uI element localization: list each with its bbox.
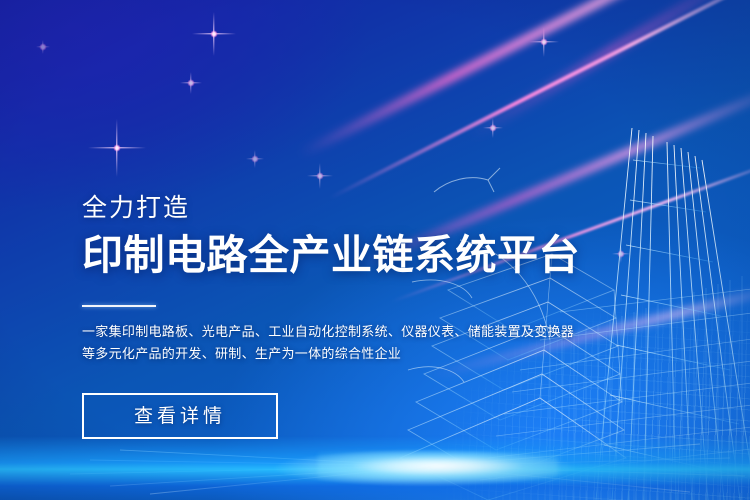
star-sparkle: [36, 40, 50, 54]
light-streak: [329, 0, 750, 200]
star-sparkle: [483, 118, 503, 138]
bottom-light-band: [0, 436, 750, 500]
hero-eyebrow: 全力打造: [82, 196, 682, 221]
bottom-light-core: [318, 452, 558, 480]
divider-rule: [82, 305, 156, 307]
star-sparkle: [529, 27, 559, 57]
hero-headline: 印制电路全产业链系统平台: [82, 235, 682, 277]
star-sparkle: [180, 72, 202, 94]
light-streak: [298, 0, 750, 159]
view-details-button[interactable]: 查看详情: [82, 393, 278, 439]
binary-data-ribbon: 1 0 0 1 1 0 0 1 0 1 1 0 0 1 0 1 0 1 1 0 …: [300, 0, 750, 147]
hero-description: 一家集印制电路板、光电产品、工业自动化控制系统、仪器仪表、储能装置及变换器 等多…: [82, 321, 552, 365]
star-sparkle: [307, 163, 333, 189]
hero-description-line-2: 等多元化产品的开发、研制、生产为一体的综合性企业: [82, 343, 552, 365]
hero-banner: 1 0 0 1 1 0 0 1 0 1 1 0 0 1 0 1 0 1 1 0 …: [0, 0, 750, 500]
burst-rays: [0, 430, 750, 500]
light-streak: [467, 0, 750, 141]
star-sparkle: [192, 12, 236, 56]
star-sparkle: [88, 119, 146, 177]
hero-description-line-1: 一家集印制电路板、光电产品、工业自动化控制系统、仪器仪表、储能装置及变换器: [82, 321, 552, 343]
hero-content: 全力打造 印制电路全产业链系统平台 一家集印制电路板、光电产品、工业自动化控制系…: [82, 196, 682, 439]
star-sparkle: [246, 150, 264, 168]
